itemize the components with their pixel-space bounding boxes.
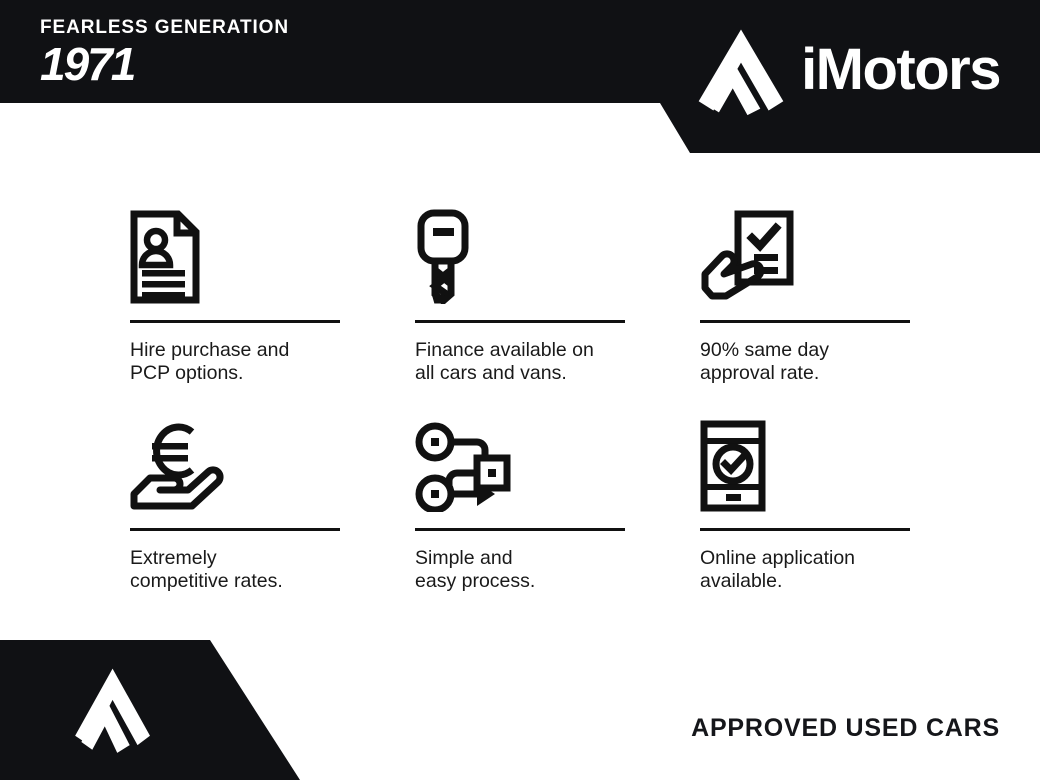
feature-divider bbox=[700, 528, 910, 531]
year-logo-1971: 1971 bbox=[40, 41, 370, 87]
poster-canvas: FEARLESS GENERATION 1971 iMotors bbox=[0, 0, 1040, 780]
feature-divider bbox=[415, 320, 625, 323]
footer-background-shape bbox=[0, 640, 420, 780]
feature-caption: Hire purchase and PCP options. bbox=[130, 339, 415, 385]
imotors-chevron-icon bbox=[695, 24, 787, 116]
feature-divider bbox=[415, 528, 625, 531]
feature-caption: 90% same day approval rate. bbox=[700, 339, 920, 385]
feature-card: Simple and easy process. bbox=[415, 404, 700, 612]
header-content: FEARLESS GENERATION 1971 iMotors bbox=[0, 0, 1040, 160]
feature-card: Extremely competitive rates. bbox=[130, 404, 415, 612]
feature-card: Online application available. bbox=[700, 404, 920, 612]
smartphone-check-icon bbox=[700, 404, 920, 512]
feature-card: Finance available on all cars and vans. bbox=[415, 196, 700, 404]
feature-caption: Online application available. bbox=[700, 547, 920, 593]
fearless-generation-block: FEARLESS GENERATION 1971 bbox=[40, 18, 370, 87]
euro-in-hand-icon bbox=[130, 404, 415, 512]
footer-tagline: APPROVED USED CARS bbox=[691, 714, 1000, 743]
feature-caption: Simple and easy process. bbox=[415, 547, 700, 593]
imotors-chevron-icon bbox=[72, 664, 150, 756]
car-key-icon bbox=[415, 196, 700, 304]
brand-wordmark: iMotors bbox=[801, 41, 1000, 99]
process-flowchart-icon bbox=[415, 404, 700, 512]
feature-divider bbox=[700, 320, 910, 323]
header-tagline: FEARLESS GENERATION bbox=[40, 18, 370, 37]
brand-lockup[interactable]: iMotors bbox=[695, 24, 1000, 116]
feature-caption: Extremely competitive rates. bbox=[130, 547, 415, 593]
hand-holding-checklist-icon bbox=[700, 196, 920, 304]
feature-card: Hire purchase and PCP options. bbox=[130, 196, 415, 404]
feature-card: 90% same day approval rate. bbox=[700, 196, 920, 404]
cv-document-person-icon bbox=[130, 196, 415, 304]
feature-divider bbox=[130, 528, 340, 531]
feature-grid: Hire purchase and PCP options. Finance a… bbox=[130, 196, 920, 612]
feature-caption: Finance available on all cars and vans. bbox=[415, 339, 700, 385]
feature-divider bbox=[130, 320, 340, 323]
